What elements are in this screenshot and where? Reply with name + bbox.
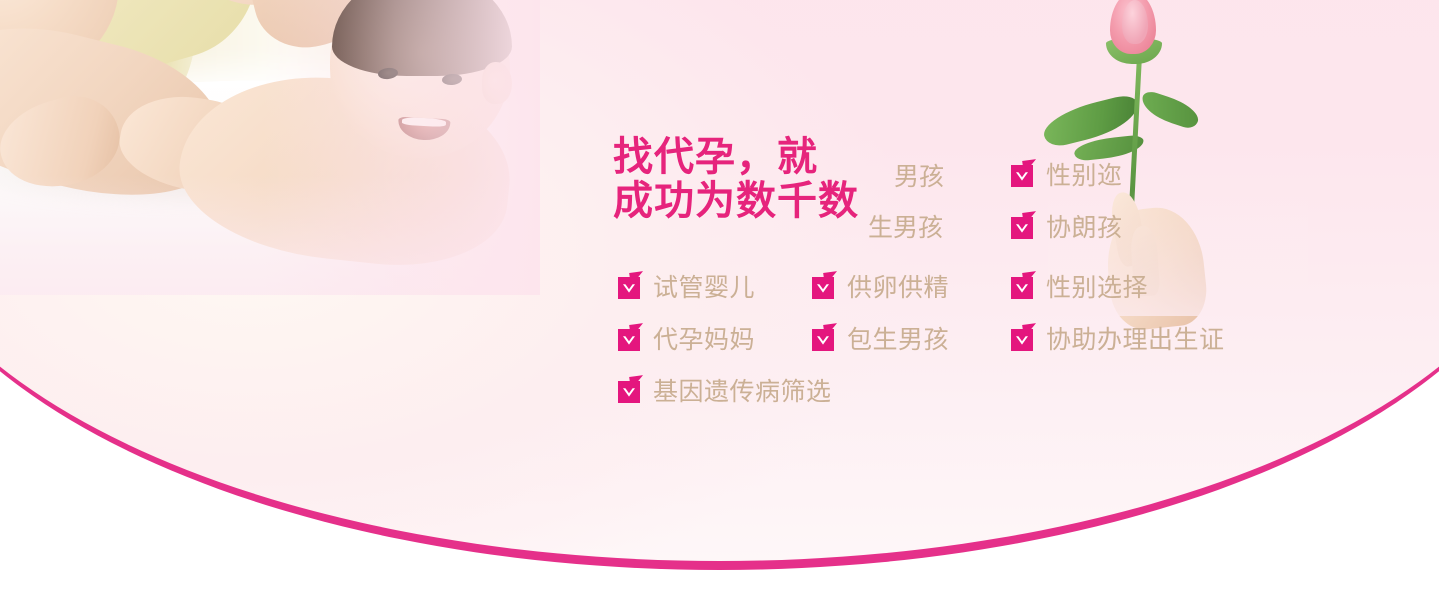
checkbox-checked-icon xyxy=(1011,326,1037,351)
checklist-item-label: 代孕妈妈 xyxy=(653,320,755,356)
headline-line-2: 成功为数千数 xyxy=(613,179,859,223)
checklist-item[interactable]: 协助办理出生证 xyxy=(1011,320,1225,356)
checkbox-checked-icon xyxy=(812,326,838,351)
checkbox-checked-icon xyxy=(618,274,644,299)
checklist-item[interactable]: 性别选择 xyxy=(1011,268,1148,304)
checkbox-checked-icon xyxy=(1011,274,1037,299)
checklist-item[interactable]: 性别迩 xyxy=(1011,156,1123,192)
ghost-text-line-1: 男孩 xyxy=(894,157,944,193)
checklist-item-label: 协朗孩 xyxy=(1046,208,1123,244)
checklist-item[interactable]: 协朗孩 xyxy=(1011,208,1123,244)
checkbox-checked-icon xyxy=(618,326,644,351)
headline-line-1: 找代孕，就 xyxy=(613,135,859,179)
checklist-item[interactable]: 代孕妈妈 xyxy=(618,320,755,356)
checklist-item[interactable]: 试管婴儿 xyxy=(618,268,755,304)
checklist-item[interactable]: 供卵供精 xyxy=(812,268,949,304)
promo-banner: 男孩 生男孩 找代孕，就 成功为数千数 性别迩 协朗孩 试管婴儿 xyxy=(0,0,1439,600)
checklist-item-label: 性别选择 xyxy=(1046,268,1148,304)
checkbox-checked-icon xyxy=(618,378,644,403)
checkbox-checked-icon xyxy=(812,274,838,299)
headline: 找代孕，就 成功为数千数 xyxy=(613,135,859,223)
photo-blend-overlay xyxy=(0,0,540,295)
checklist-item[interactable]: 基因遗传病筛选 xyxy=(618,372,832,408)
checklist-item[interactable]: 包生男孩 xyxy=(812,320,949,356)
mother-and-baby-photo xyxy=(0,0,540,295)
checklist-item-label: 供卵供精 xyxy=(847,268,949,304)
checklist-item-label: 协助办理出生证 xyxy=(1046,320,1225,356)
checklist-item-label: 试管婴儿 xyxy=(653,268,755,304)
checkbox-checked-icon xyxy=(1011,162,1037,187)
checklist-item-label: 基因遗传病筛选 xyxy=(653,372,832,408)
checkbox-checked-icon xyxy=(1011,214,1037,239)
ghost-text-line-2: 生男孩 xyxy=(868,208,943,244)
checklist-item-label: 包生男孩 xyxy=(847,320,949,356)
checklist-item-label: 性别迩 xyxy=(1046,156,1123,192)
